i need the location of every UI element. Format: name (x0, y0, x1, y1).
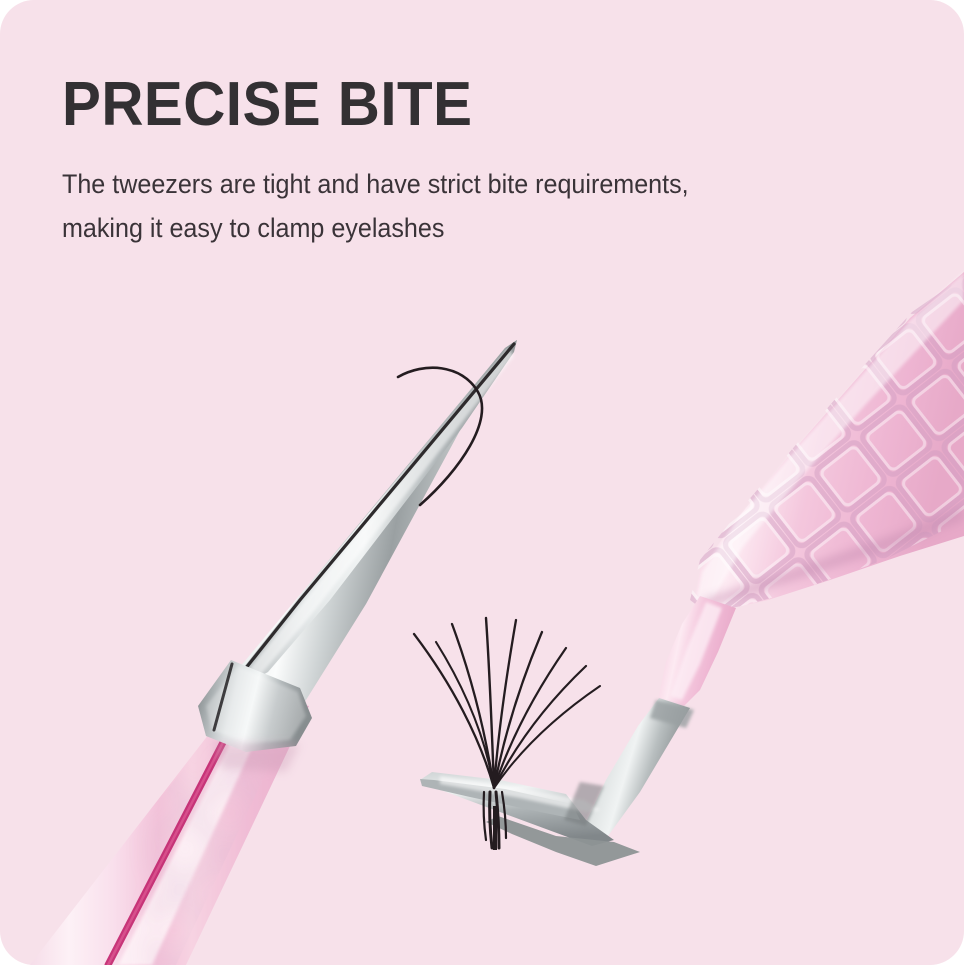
right-handle-quilt-texture (660, 260, 964, 630)
right-tweezer-blade-tip (420, 779, 580, 820)
right-tweezer-metal-upper (586, 698, 690, 836)
left-handle-seam (108, 694, 248, 965)
left-metal-specular (250, 348, 514, 678)
right-tweezer-metal-blade (420, 772, 614, 846)
left-handle-quilt-texture (150, 760, 340, 965)
left-tweezer-metal-shaft (209, 340, 517, 738)
feature-text-block: PRECISE BITE The tweezers are tight and … (62, 72, 882, 251)
feature-description-line-1: The tweezers are tight and have strict b… (62, 163, 825, 207)
right-tweezer-lower-jaw (486, 816, 640, 866)
eyelash-fan (414, 618, 600, 788)
product-feature-card: PRECISE BITE The tweezers are tight and … (0, 0, 964, 965)
right-tweezer-handle (694, 272, 964, 612)
right-handle-gloss (696, 272, 964, 600)
right-tweezer (420, 260, 964, 866)
left-tweezer (30, 340, 517, 965)
feature-description-line-2: making it easy to clamp eyelashes (62, 207, 825, 251)
single-eyelash-hair (398, 368, 482, 505)
right-tweezer-arm (658, 596, 736, 706)
left-tweezer-ferrule (198, 660, 312, 752)
left-handle-gloss (118, 700, 272, 965)
left-tweezer-seam-line (222, 344, 514, 714)
left-tweezer-handle (30, 690, 309, 965)
page-title: PRECISE BITE (62, 72, 833, 137)
right-blade-highlight (440, 776, 600, 812)
left-tweezer-metal-facet (236, 340, 517, 690)
right-metal-handle-junction (650, 700, 694, 728)
eyelash-fan-stem (484, 792, 506, 850)
